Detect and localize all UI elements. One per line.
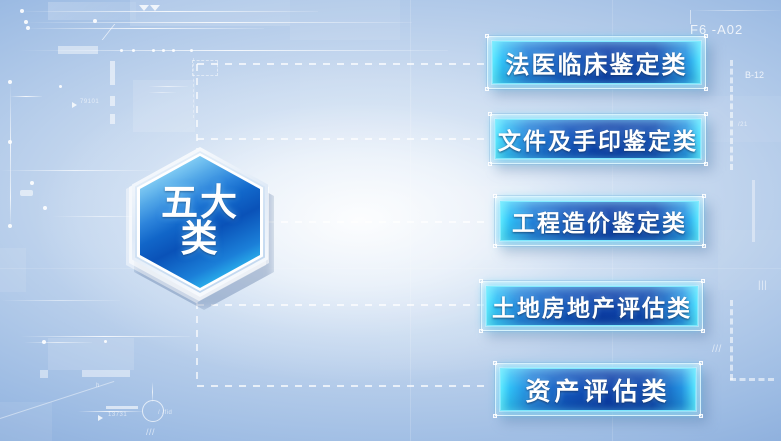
hud-line bbox=[24, 342, 92, 343]
hud-dot bbox=[20, 9, 24, 13]
hud-micro-label: h bbox=[96, 383, 100, 389]
hud-bar bbox=[20, 190, 33, 196]
hud-line bbox=[0, 268, 781, 269]
hud-bar bbox=[106, 406, 138, 409]
hud-dot bbox=[43, 206, 47, 210]
hud-panel bbox=[0, 248, 26, 292]
hud-micro-label: ||| bbox=[758, 280, 767, 291]
bar-corner-marker bbox=[702, 244, 706, 248]
hud-dashed bbox=[730, 378, 774, 381]
bar-corner-marker bbox=[493, 194, 497, 198]
hud-panel bbox=[718, 230, 781, 290]
hud-panel bbox=[48, 2, 136, 20]
hud-dot bbox=[162, 49, 165, 52]
hud-dot bbox=[8, 224, 12, 228]
five-categories-badge[interactable]: 五大类 bbox=[124, 146, 272, 306]
category-bar-3[interactable]: 工程造价鉴定类 bbox=[495, 196, 704, 246]
hud-line bbox=[20, 336, 190, 337]
hud-line bbox=[0, 300, 120, 301]
bar-corner-marker bbox=[699, 414, 703, 418]
hud-panel bbox=[0, 402, 52, 441]
hud-panel bbox=[133, 80, 195, 132]
hud-diagonal bbox=[0, 381, 114, 419]
hud-line bbox=[22, 22, 412, 23]
bar-corner-marker bbox=[493, 414, 497, 418]
hud-line bbox=[78, 411, 142, 412]
hud-dot bbox=[8, 140, 12, 144]
hud-micro-label: 13731 bbox=[108, 412, 127, 418]
hud-diagonal bbox=[87, 24, 116, 40]
hud-dot bbox=[104, 340, 107, 343]
hud-line bbox=[148, 86, 188, 87]
hud-dot bbox=[42, 340, 46, 344]
bar-corner-marker bbox=[704, 87, 708, 91]
hud-micro-label: /// bbox=[146, 427, 155, 437]
bar-corner-marker bbox=[704, 162, 708, 166]
bar-corner-marker bbox=[488, 162, 492, 166]
hud-line bbox=[690, 10, 780, 11]
hud-micro-label: / /fid bbox=[158, 410, 172, 416]
category-label-2: 文件及手印鉴定类 bbox=[496, 120, 700, 158]
category-label-4: 土地房地产评估类 bbox=[487, 287, 697, 325]
hud-micro-label: /21 bbox=[738, 122, 748, 128]
overlay-code-secondary: B-12 bbox=[745, 70, 764, 80]
hud-bar bbox=[58, 46, 98, 54]
bar-corner-marker bbox=[479, 279, 483, 283]
hud-dot bbox=[24, 20, 28, 24]
chevron-down-icon bbox=[139, 5, 149, 11]
hud-dashed bbox=[193, 58, 194, 118]
hud-line bbox=[752, 180, 755, 242]
bar-corner-marker bbox=[704, 112, 708, 116]
hud-line bbox=[24, 28, 264, 29]
chevron-down-icon bbox=[150, 5, 160, 11]
hud-dot bbox=[132, 49, 135, 52]
hud-square bbox=[40, 370, 48, 378]
bar-corner-marker bbox=[704, 34, 708, 38]
infographic-canvas: 79101 h 13731 / /fid /// bbox=[0, 0, 781, 441]
hud-dashed-box bbox=[192, 60, 218, 76]
hud-tick bbox=[110, 96, 115, 106]
bar-corner-marker bbox=[485, 34, 489, 38]
bar-corner-marker bbox=[485, 87, 489, 91]
hud-line bbox=[690, 10, 691, 24]
hud-line bbox=[152, 382, 153, 402]
overlay-code-primary: F6 -A02 bbox=[690, 22, 743, 37]
hud-panel bbox=[290, 0, 400, 40]
hud-dot bbox=[120, 49, 123, 52]
hud-line bbox=[10, 170, 11, 225]
play-icon bbox=[98, 415, 103, 421]
hud-line bbox=[10, 96, 42, 97]
category-bar-4[interactable]: 土地房地产评估类 bbox=[481, 281, 703, 331]
badge-title: 五大类 bbox=[157, 186, 243, 258]
hud-line bbox=[18, 50, 448, 51]
hud-panel bbox=[48, 338, 134, 370]
category-label-5: 资产评估类 bbox=[501, 369, 695, 410]
hud-dot bbox=[152, 49, 155, 52]
hud-micro-label: 79101 bbox=[80, 99, 99, 105]
hud-panel bbox=[130, 0, 290, 26]
play-icon bbox=[72, 102, 77, 108]
hud-dot bbox=[93, 19, 97, 23]
bar-corner-marker bbox=[493, 361, 497, 365]
bar-corner-marker bbox=[701, 279, 705, 283]
hud-dot bbox=[26, 26, 30, 30]
hud-line bbox=[18, 11, 318, 12]
hud-dot bbox=[172, 49, 175, 52]
hud-dashed bbox=[730, 300, 733, 380]
category-label-3: 工程造价鉴定类 bbox=[501, 202, 698, 240]
category-label-1: 法医临床鉴定类 bbox=[493, 42, 700, 83]
bar-corner-marker bbox=[702, 194, 706, 198]
hud-bar bbox=[82, 370, 130, 377]
hud-dot bbox=[59, 85, 62, 88]
bar-corner-marker bbox=[701, 329, 705, 333]
category-bar-1[interactable]: 法医临床鉴定类 bbox=[487, 36, 706, 89]
hud-dot bbox=[190, 49, 193, 52]
bar-corner-marker bbox=[479, 329, 483, 333]
hud-line bbox=[10, 82, 11, 210]
hud-dot bbox=[8, 80, 12, 84]
hud-line bbox=[410, 0, 411, 441]
category-bar-2[interactable]: 文件及手印鉴定类 bbox=[490, 114, 706, 164]
hud-micro-label: /// bbox=[712, 344, 722, 355]
category-bar-5[interactable]: 资产评估类 bbox=[495, 363, 701, 416]
hud-dot bbox=[30, 181, 34, 185]
bar-corner-marker bbox=[493, 244, 497, 248]
badge-text-wrap: 五大类 bbox=[140, 156, 260, 288]
hud-tick bbox=[110, 114, 115, 124]
hud-dashed bbox=[730, 60, 733, 170]
hud-panel bbox=[300, 60, 412, 180]
hud-line bbox=[148, 92, 176, 93]
hud-tick bbox=[110, 61, 115, 85]
bar-corner-marker bbox=[488, 112, 492, 116]
bar-corner-marker bbox=[699, 361, 703, 365]
hud-ring bbox=[142, 400, 164, 422]
